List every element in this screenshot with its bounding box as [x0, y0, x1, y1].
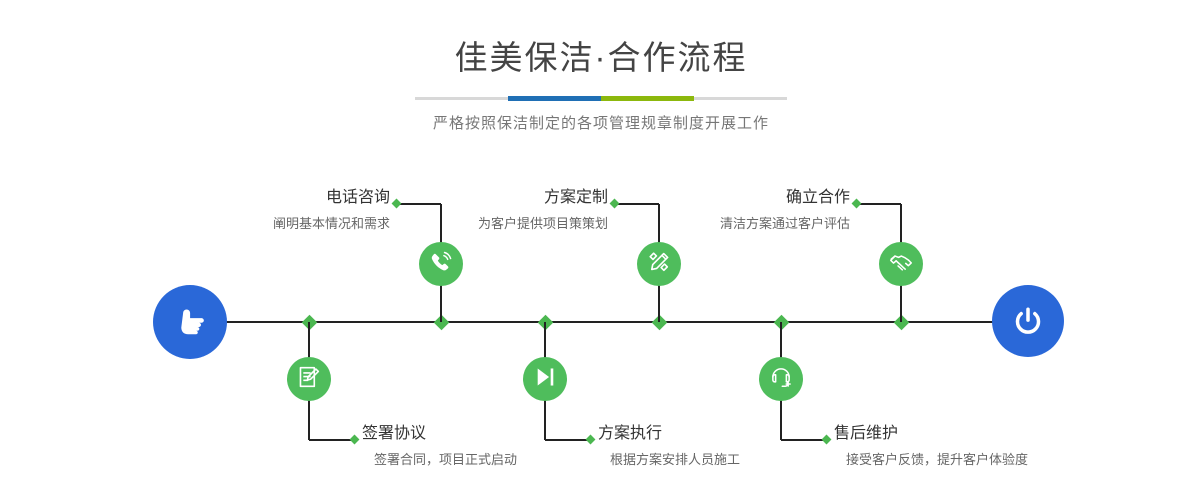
step-desc: 根据方案安排人员施工: [610, 453, 740, 466]
connector-horizontal: [545, 439, 590, 441]
step-title: 方案执行: [598, 426, 740, 442]
step-title: 售后维护: [834, 426, 1028, 442]
step-desc: 阐明基本情况和需求: [273, 217, 390, 230]
step-icon-5[interactable]: [879, 242, 923, 286]
connector-horizontal: [856, 203, 901, 205]
step-label-4: 方案执行根据方案安排人员施工: [598, 426, 740, 466]
timeline-end-node: [992, 285, 1064, 357]
step-title: 方案定制: [478, 190, 608, 206]
power-icon: [1007, 300, 1049, 342]
step-title: 电话咨询: [273, 190, 390, 206]
flow-infographic: 佳美保洁·合作流程 严格按照保洁制定的各项管理规章制度开展工作 电话咨询阐明基本…: [0, 0, 1202, 502]
step-label-3: 方案定制为客户提供项目策策划: [478, 190, 608, 230]
step-desc: 接受客户反馈，提升客户体验度: [846, 453, 1028, 466]
label-marker-diamond: [585, 434, 595, 444]
step-label-2: 签署协议签署合同，项目正式启动: [362, 426, 517, 466]
step-icon-4[interactable]: [523, 357, 567, 401]
step-icon-3[interactable]: [637, 242, 681, 286]
timeline-start-node: [153, 285, 227, 359]
ruler-pencil-icon: [646, 249, 672, 280]
headset-support-icon: [768, 364, 794, 395]
label-marker-diamond: [821, 434, 831, 444]
step-desc: 清洁方案通过客户评估: [720, 217, 850, 230]
step-icon-1[interactable]: [419, 242, 463, 286]
step-title: 确立合作: [720, 190, 850, 206]
step-icon-2[interactable]: [287, 357, 331, 401]
step-desc: 为客户提供项目策策划: [478, 217, 608, 230]
label-marker-diamond: [851, 198, 861, 208]
document-pencil-icon: [296, 364, 322, 395]
step-label-5: 确立合作清洁方案通过客户评估: [720, 190, 850, 230]
step-desc: 签署合同，项目正式启动: [374, 453, 517, 466]
handshake-icon: [888, 249, 914, 280]
connector-horizontal: [781, 439, 826, 441]
play-execute-icon: [532, 364, 558, 395]
connector-horizontal: [309, 439, 354, 441]
timeline: 电话咨询阐明基本情况和需求签署协议签署合同，项目正式启动方案定制为客户提供项目策…: [0, 0, 1202, 502]
phone-call-icon: [428, 249, 454, 280]
step-label-1: 电话咨询阐明基本情况和需求: [273, 190, 390, 230]
label-marker-diamond: [349, 434, 359, 444]
label-marker-diamond: [391, 198, 401, 208]
pointing-hand-icon: [168, 300, 212, 344]
connector-horizontal: [396, 203, 441, 205]
connector-horizontal: [614, 203, 659, 205]
step-title: 签署协议: [362, 426, 517, 442]
step-label-6: 售后维护接受客户反馈，提升客户体验度: [834, 426, 1028, 466]
step-icon-6[interactable]: [759, 357, 803, 401]
label-marker-diamond: [609, 198, 619, 208]
